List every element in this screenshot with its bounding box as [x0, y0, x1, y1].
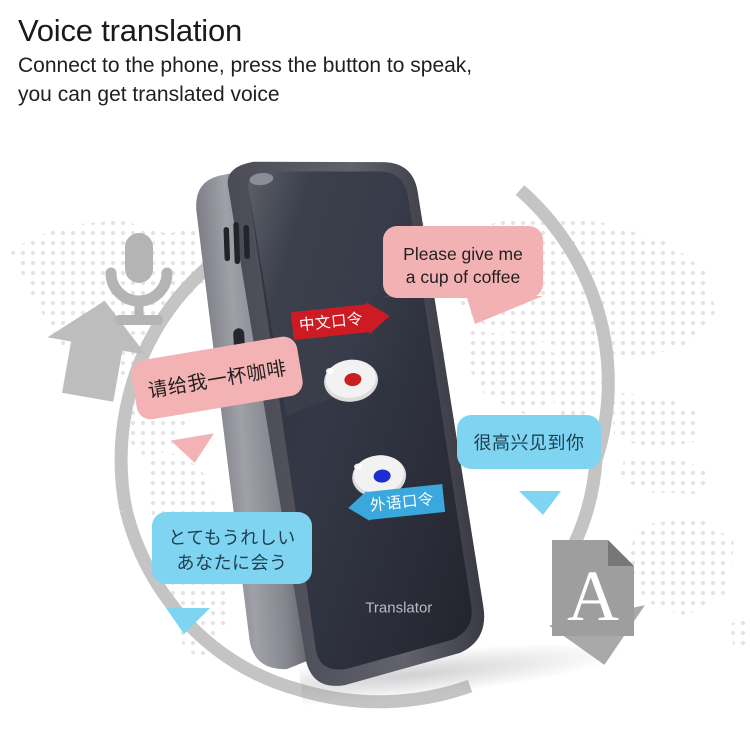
- bubble-line-1: とてもうれしい: [160, 526, 304, 551]
- microphone-icon: [103, 233, 175, 333]
- page-title: Voice translation: [18, 12, 618, 50]
- page-subtitle-line-1: Connect to the phone, press the button t…: [18, 52, 618, 79]
- speech-bubble-english-request: Please give me a cup of coffee: [383, 226, 543, 298]
- bubble-line-1: Please give me: [393, 243, 533, 266]
- bubble-line-2: あなたに会う: [160, 551, 304, 576]
- document-text-icon: A: [552, 540, 634, 636]
- device-brand-label: Translator: [365, 600, 432, 617]
- document-letter: A: [567, 556, 619, 636]
- product-infographic: A: [0, 0, 750, 750]
- page-subtitle-line-2: you can get translated voice: [18, 81, 618, 108]
- header: Voice translation Connect to the phone, …: [18, 12, 618, 108]
- speech-bubble-japanese-greeting: とてもうれしい あなたに会う: [152, 512, 312, 584]
- bubble-line-2: a cup of coffee: [393, 266, 533, 289]
- bubble-line-1: 请给我一杯咖啡: [138, 354, 296, 405]
- bubble-tail: [383, 296, 543, 324]
- speech-bubble-chinese-greeting: 很高兴见到你: [457, 415, 601, 469]
- bubble-line-1: 很高兴见到你: [463, 431, 595, 455]
